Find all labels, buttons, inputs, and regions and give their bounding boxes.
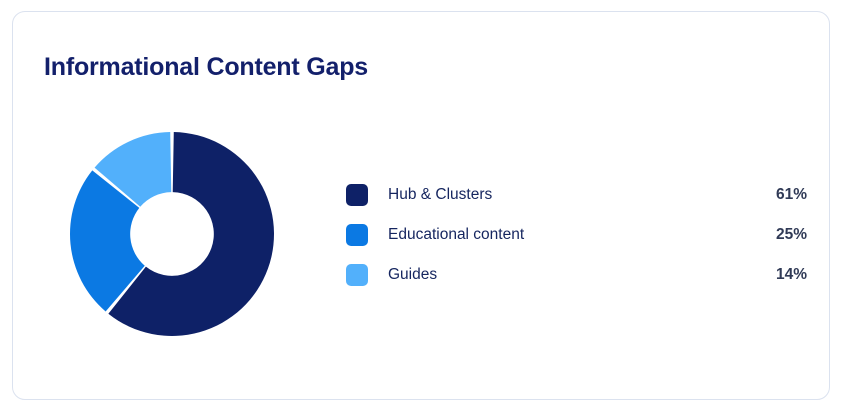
list-item[interactable]: Guides 14% [346, 255, 807, 295]
chart-legend: Hub & Clusters 61% Educational content 2… [346, 175, 807, 295]
content-gaps-card: Informational Content Gaps Hub & Cluster… [12, 11, 830, 400]
legend-value-hub-clusters: 61% [776, 186, 807, 204]
list-item[interactable]: Hub & Clusters 61% [346, 175, 807, 215]
legend-value-educational-content: 25% [776, 226, 807, 244]
legend-swatch-guides [346, 264, 368, 286]
legend-value-guides: 14% [776, 266, 807, 284]
donut-chart: Hub & Clusters 61% Educational content 2… [13, 12, 831, 401]
donut-graphic [69, 131, 275, 337]
donut-svg [69, 131, 275, 337]
legend-label-hub-clusters: Hub & Clusters [388, 186, 776, 204]
legend-label-educational-content: Educational content [388, 226, 776, 244]
legend-swatch-hub-clusters [346, 184, 368, 206]
legend-swatch-educational-content [346, 224, 368, 246]
list-item[interactable]: Educational content 25% [346, 215, 807, 255]
legend-label-guides: Guides [388, 266, 776, 284]
